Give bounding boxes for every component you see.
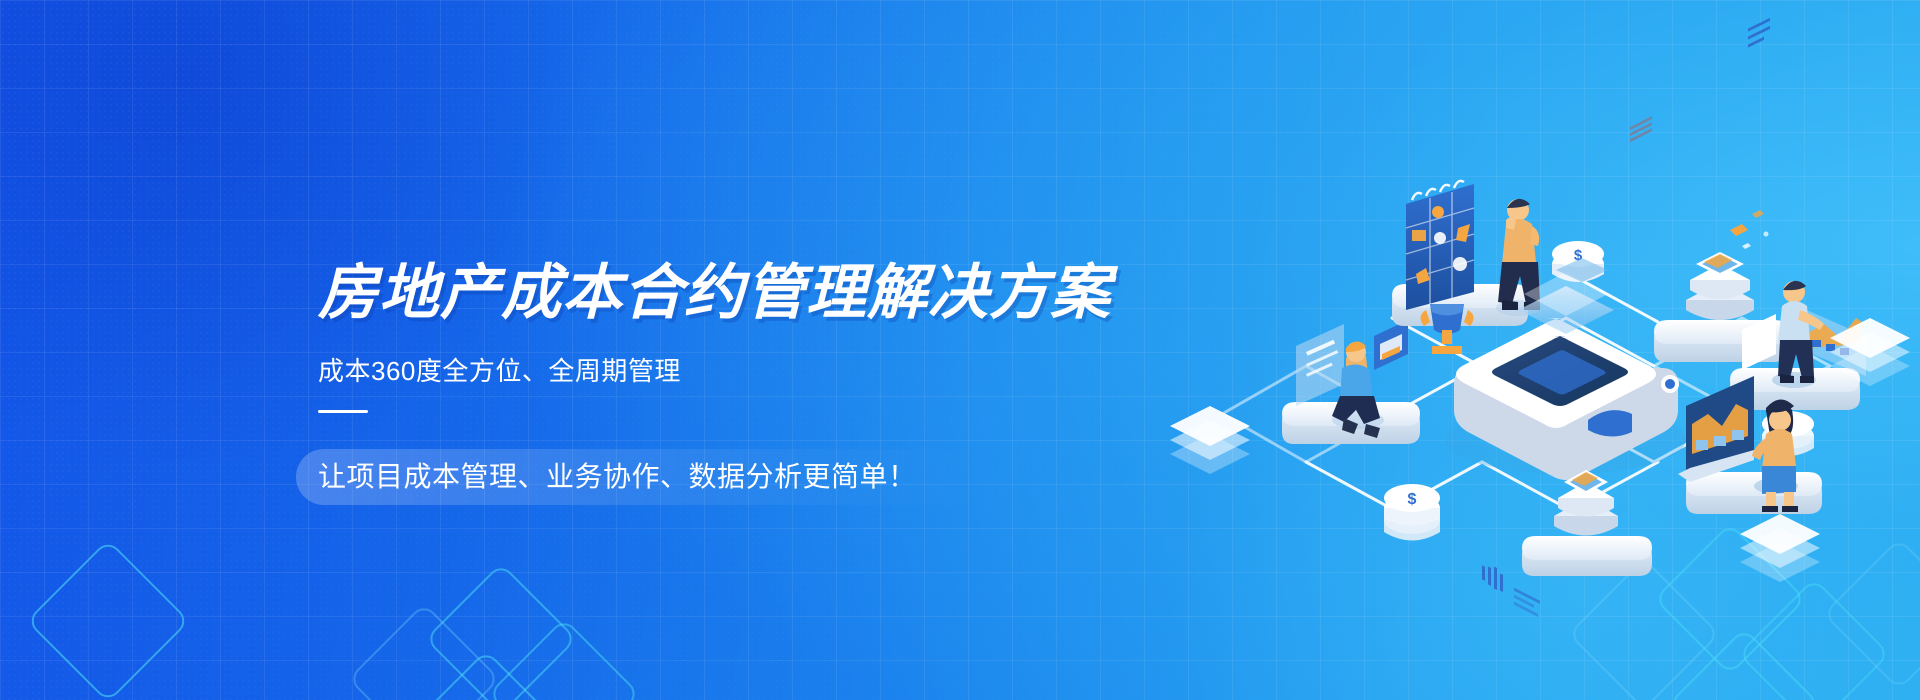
dashboard-screen [1678,376,1754,482]
decorative-diamond [1668,628,1821,700]
title-divider [318,410,368,413]
seated-woman-platform [1282,320,1420,444]
hero-copy-block: 房地产成本合约管理解决方案 成本360度全方位、全周期管理 让项目成本管理、业务… [318,256,1078,505]
media-card [1374,320,1408,370]
hero-banner: 房地产成本合约管理解决方案 成本360度全方位、全周期管理 让项目成本管理、业务… [0,0,1920,700]
document-panel [1296,324,1344,406]
hero-tagline: 让项目成本管理、业务协作、数据分析更简单！ [318,457,917,497]
card-stack-bottom-right [1740,514,1820,582]
floating-particles [1730,210,1769,249]
hero-tagline-row: 让项目成本管理、业务协作、数据分析更简单！ [318,449,1078,505]
hero-headline: 房地产成本合约管理解决方案 [318,256,1078,330]
coin-stack-left: $ [1384,484,1440,541]
decorative-diamond [1738,578,1891,700]
document-card-presenter [1742,18,1776,370]
svg-text:$: $ [1408,491,1417,508]
stacked-server [1686,252,1754,320]
isometric-illustration: $ $ $ [1130,168,1920,588]
decorative-diamond [488,618,641,700]
card-stack-left [1170,406,1250,474]
decorative-diamond [425,563,578,700]
decorative-diamond [410,650,563,700]
hero-subtitle: 成本360度全方位、全周期管理 [318,354,1078,388]
calendar-board [1406,181,1474,310]
decorative-diamond [26,539,190,700]
server-node-bottom [1522,470,1652,576]
calendar-board-platform [1392,181,1540,354]
decorative-diamond [348,603,501,700]
